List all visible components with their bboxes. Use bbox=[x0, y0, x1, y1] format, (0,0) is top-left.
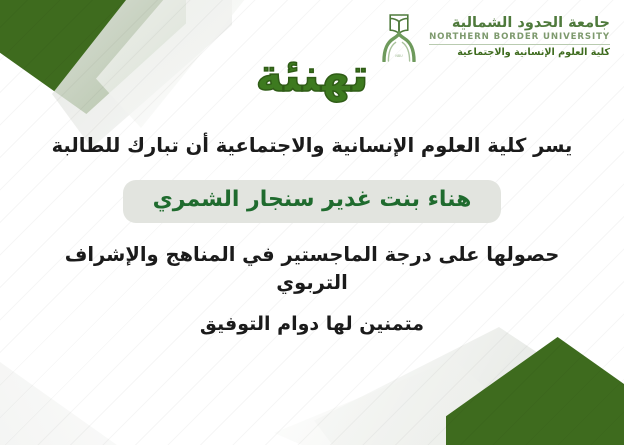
message-body: يسر كلية العلوم الإنسانية والاجتماعية أن… bbox=[0, 132, 624, 339]
congratulation-card: NBU جامعة الحدود الشمالية NORTHERN BORDE… bbox=[0, 0, 624, 445]
card-content: NBU جامعة الحدود الشمالية NORTHERN BORDE… bbox=[0, 0, 624, 445]
headline-container: تهنئة bbox=[0, 52, 624, 98]
university-name-arabic: جامعة الحدود الشمالية bbox=[429, 16, 610, 31]
university-name-english: NORTHERN BORDER UNIVERSITY bbox=[429, 33, 610, 45]
achievement-line: حصولها على درجة الماجستير في المناهج وال… bbox=[36, 241, 588, 298]
student-name-badge: هناء بنت غدير سنجار الشمري bbox=[123, 180, 502, 222]
intro-line: يسر كلية العلوم الإنسانية والاجتماعية أن… bbox=[36, 132, 588, 160]
headline-congratulation: تهنئة bbox=[255, 52, 368, 98]
closing-line: متمنين لها دوام التوفيق bbox=[36, 311, 588, 339]
student-name: هناء بنت غدير سنجار الشمري bbox=[153, 187, 472, 212]
